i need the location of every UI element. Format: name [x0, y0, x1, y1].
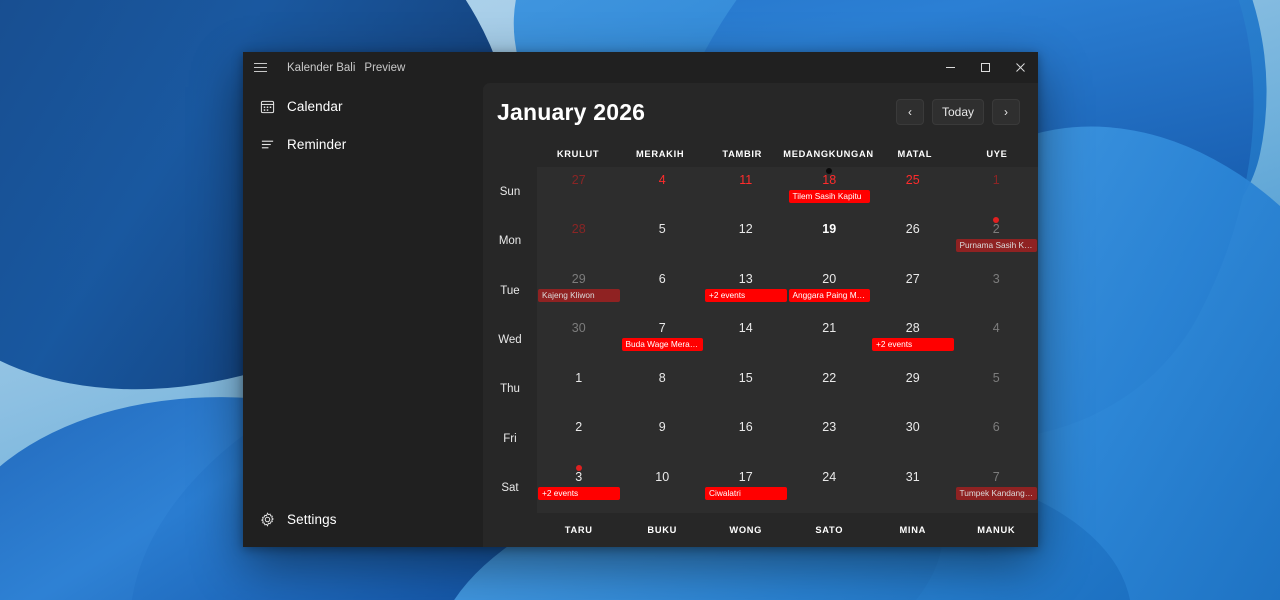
- day-number: 4: [993, 321, 1000, 335]
- event-badge[interactable]: +2 events: [705, 289, 787, 302]
- day-number: 2: [993, 222, 1000, 236]
- day-number: 24: [822, 470, 836, 484]
- calendar-day-cell[interactable]: 25: [871, 167, 955, 216]
- day-number: 5: [993, 371, 1000, 385]
- day-events: [621, 286, 705, 289]
- calendar-navigation: ‹ Today ›: [896, 99, 1020, 125]
- day-number: 28: [906, 321, 920, 335]
- calendar-day-cell[interactable]: 11: [704, 167, 788, 216]
- calendar-day-cell[interactable]: 20Anggara Paing M…: [788, 266, 872, 315]
- calendar-day-cell[interactable]: 10: [621, 464, 705, 513]
- day-number: 29: [572, 272, 586, 286]
- calendar-day-cell[interactable]: 4: [955, 315, 1039, 364]
- desktop-wallpaper: Kalender BaliPreview: [0, 0, 1280, 600]
- weekday-label: Sun: [483, 167, 537, 216]
- reminder-list-icon: [259, 136, 275, 152]
- day-events: +2 events: [537, 484, 621, 500]
- weekday-label: Sat: [483, 464, 537, 513]
- day-events: [955, 335, 1039, 338]
- calendar-day-cell[interactable]: 24: [788, 464, 872, 513]
- sidebar-item-calendar-label: Calendar: [287, 99, 343, 114]
- calendar-day-cell[interactable]: 30: [537, 315, 621, 364]
- footer-name: MANUK: [955, 525, 1039, 535]
- pasaran-name: MEDANGKUNGAN: [783, 149, 874, 159]
- calendar-week-row: 3+2 events1017Ciwalatri24317Tumpek Kanda…: [537, 464, 1038, 513]
- day-events: [788, 335, 872, 338]
- day-number: 5: [659, 222, 666, 236]
- calendar-day-cell[interactable]: 1: [537, 365, 621, 414]
- calendar-grid: 2741118Tilem Sasih Kapitu2512851219262Pu…: [537, 167, 1038, 513]
- pasaran-name: KRULUT: [537, 149, 619, 159]
- day-number: 1: [575, 371, 582, 385]
- weekday-label: Tue: [483, 266, 537, 315]
- day-events: [537, 335, 621, 338]
- calendar-grid-wrapper: SunMonTueWedThuFriSat 2741118Tilem Sasih…: [483, 167, 1038, 513]
- month-title: January 2026: [497, 99, 645, 126]
- event-badge[interactable]: Kajeng Kliwon: [538, 289, 620, 302]
- day-events: +2 events: [871, 335, 955, 351]
- day-events: [955, 434, 1039, 437]
- event-badge[interactable]: +2 events: [872, 338, 954, 351]
- day-number: 21: [822, 321, 836, 335]
- close-icon[interactable]: [1003, 52, 1038, 83]
- day-number: 13: [739, 272, 753, 286]
- day-events: [871, 484, 955, 487]
- calendar-day-cell[interactable]: 15: [704, 365, 788, 414]
- day-number: 8: [659, 371, 666, 385]
- day-events: [537, 385, 621, 388]
- previous-month-button[interactable]: ‹: [896, 99, 924, 125]
- event-badge[interactable]: +2 events: [538, 487, 620, 500]
- sidebar-item-reminder-label: Reminder: [287, 137, 346, 152]
- day-number: 17: [739, 470, 753, 484]
- day-events: [871, 434, 955, 437]
- calendar-day-cell[interactable]: 6: [621, 266, 705, 315]
- day-number: 12: [739, 222, 753, 236]
- day-events: [788, 434, 872, 437]
- day-events: [955, 286, 1039, 289]
- app-window: Kalender BaliPreview: [243, 52, 1038, 547]
- event-badge[interactable]: Ciwalatri: [705, 487, 787, 500]
- calendar-week-row: 307Buda Wage Mera…142128+2 events4: [537, 315, 1038, 364]
- maximize-icon[interactable]: [968, 52, 1003, 83]
- day-events: [871, 187, 955, 190]
- calendar-day-cell[interactable]: 17Ciwalatri: [704, 464, 788, 513]
- day-events: Purnama Sasih K…: [955, 236, 1039, 252]
- day-number: 15: [739, 371, 753, 385]
- day-number: 14: [739, 321, 753, 335]
- day-events: Kajeng Kliwon: [537, 286, 621, 302]
- day-events: Tumpek Kandang…: [955, 484, 1039, 500]
- calendar-day-cell[interactable]: 3: [955, 266, 1039, 315]
- day-number: 2: [575, 420, 582, 434]
- day-events: [871, 385, 955, 388]
- day-events: [955, 385, 1039, 388]
- pasaran-name: TAMBIR: [701, 149, 783, 159]
- weekday-label-column: SunMonTueWedThuFriSat: [483, 167, 537, 513]
- app-title-text: Kalender Bali: [287, 62, 355, 74]
- day-events: [704, 335, 788, 338]
- day-number: 30: [572, 321, 586, 335]
- day-number: 7: [659, 321, 666, 335]
- calendar-card: January 2026 ‹ Today › KRULUTMERAKIHTAMB…: [483, 83, 1038, 547]
- day-number: 4: [659, 173, 666, 187]
- day-number: 30: [906, 420, 920, 434]
- day-number: 1: [993, 173, 1000, 187]
- calendar-week-row: 2851219262Purnama Sasih K…: [537, 216, 1038, 265]
- day-events: Ciwalatri: [704, 484, 788, 500]
- calendar-day-cell[interactable]: 7Buda Wage Mera…: [621, 315, 705, 364]
- calendar-day-cell[interactable]: 5: [621, 216, 705, 265]
- calendar-day-cell[interactable]: 26: [871, 216, 955, 265]
- calendar-day-cell[interactable]: 6: [955, 414, 1039, 463]
- day-number: 6: [993, 420, 1000, 434]
- calendar-day-cell[interactable]: 28: [537, 216, 621, 265]
- calendar-day-cell[interactable]: 22: [788, 365, 872, 414]
- purnama-moon-dot-icon: [576, 465, 582, 471]
- event-badge[interactable]: Tumpek Kandang…: [956, 487, 1038, 500]
- footer-name: SATO: [788, 525, 872, 535]
- day-number: 22: [822, 371, 836, 385]
- window-body: Calendar Reminder: [243, 83, 1038, 547]
- calendar-day-cell[interactable]: 28+2 events: [871, 315, 955, 364]
- sidebar-item-reminder[interactable]: Reminder: [248, 126, 478, 162]
- pasaran-name: MATAL: [874, 149, 956, 159]
- day-events: [621, 236, 705, 239]
- day-number: 19: [822, 222, 836, 236]
- day-number: 3: [575, 470, 582, 484]
- day-events: [704, 236, 788, 239]
- day-number: 11: [739, 173, 752, 187]
- calendar-day-cell[interactable]: 2Purnama Sasih K…: [955, 216, 1039, 265]
- calendar-icon: [259, 98, 275, 114]
- day-events: Buda Wage Mera…: [621, 335, 705, 351]
- day-number: 29: [906, 371, 920, 385]
- today-button[interactable]: Today: [932, 99, 984, 125]
- calendar-week-row: 29Kajeng Kliwon613+2 events20Anggara Pai…: [537, 266, 1038, 315]
- sidebar: Calendar Reminder: [243, 83, 483, 547]
- day-number: 10: [655, 470, 669, 484]
- day-number: 7: [993, 470, 1000, 484]
- calendar-day-cell[interactable]: 14: [704, 315, 788, 364]
- calendar-day-cell[interactable]: 13+2 events: [704, 266, 788, 315]
- day-events: [537, 236, 621, 239]
- calendar-day-cell[interactable]: 7Tumpek Kandang…: [955, 464, 1039, 513]
- calendar-week-row: 2741118Tilem Sasih Kapitu251: [537, 167, 1038, 216]
- hamburger-menu-icon[interactable]: [243, 52, 277, 83]
- day-events: [537, 187, 621, 190]
- pasaran-header-row: KRULUTMERAKIHTAMBIRMEDANGKUNGANMATALUYE: [483, 141, 1038, 167]
- weekday-label: Fri: [483, 414, 537, 463]
- footer-name: WONG: [704, 525, 788, 535]
- day-events: [871, 286, 955, 289]
- day-events: [537, 434, 621, 437]
- day-events: Tilem Sasih Kapitu: [788, 187, 872, 203]
- day-events: [621, 187, 705, 190]
- day-events: [621, 434, 705, 437]
- calendar-day-cell[interactable]: 21: [788, 315, 872, 364]
- calendar-day-cell[interactable]: 12: [704, 216, 788, 265]
- calendar-day-cell[interactable]: 23: [788, 414, 872, 463]
- day-events: [621, 484, 705, 487]
- calendar-day-cell[interactable]: 27: [871, 266, 955, 315]
- day-number: 3: [993, 272, 1000, 286]
- day-number: 27: [906, 272, 920, 286]
- calendar-day-cell[interactable]: 29Kajeng Kliwon: [537, 266, 621, 315]
- calendar-day-cell[interactable]: 2: [537, 414, 621, 463]
- day-number: 23: [822, 420, 836, 434]
- day-events: [955, 187, 1039, 190]
- title-bar: Kalender BaliPreview: [243, 52, 1038, 83]
- day-number: 20: [822, 272, 836, 286]
- calendar-header: January 2026 ‹ Today ›: [483, 83, 1038, 141]
- window-controls: [933, 52, 1038, 83]
- day-events: [788, 484, 872, 487]
- footer-name: TARU: [537, 525, 621, 535]
- calendar-day-cell[interactable]: 27: [537, 167, 621, 216]
- next-month-button[interactable]: ›: [992, 99, 1020, 125]
- calendar-day-cell[interactable]: 29: [871, 365, 955, 414]
- calendar-day-cell[interactable]: 19: [788, 216, 872, 265]
- sidebar-item-settings-label: Settings: [287, 512, 337, 527]
- calendar-day-cell[interactable]: 31: [871, 464, 955, 513]
- footer-name: MINA: [871, 525, 955, 535]
- event-badge[interactable]: Tilem Sasih Kapitu: [789, 190, 871, 203]
- calendar-day-cell[interactable]: 18Tilem Sasih Kapitu: [788, 167, 872, 216]
- day-number: 16: [739, 420, 753, 434]
- weekday-label: Wed: [483, 315, 537, 364]
- day-number: 25: [906, 173, 920, 187]
- day-number: 31: [906, 470, 920, 484]
- calendar-day-cell[interactable]: 5: [955, 365, 1039, 414]
- window-title: Kalender BaliPreview: [287, 62, 405, 74]
- calendar-day-cell[interactable]: 4: [621, 167, 705, 216]
- day-events: +2 events: [704, 286, 788, 302]
- day-events: [621, 385, 705, 388]
- calendar-day-cell[interactable]: 1: [955, 167, 1039, 216]
- event-badge[interactable]: Anggara Paing M…: [789, 289, 871, 302]
- day-events: [704, 434, 788, 437]
- day-number: 6: [659, 272, 666, 286]
- day-events: [704, 187, 788, 190]
- weekday-label: Thu: [483, 365, 537, 414]
- purnama-moon-dot-icon: [993, 217, 999, 223]
- day-number: 28: [572, 222, 586, 236]
- event-badge[interactable]: Purnama Sasih K…: [956, 239, 1038, 252]
- day-number: 9: [659, 420, 666, 434]
- pasaran-name: MERAKIH: [619, 149, 701, 159]
- day-events: [704, 385, 788, 388]
- day-number: 18: [822, 173, 836, 187]
- pasaran-name: UYE: [956, 149, 1038, 159]
- calendar-day-cell[interactable]: 8: [621, 365, 705, 414]
- sidebar-item-settings[interactable]: Settings: [248, 501, 478, 537]
- day-events: [871, 236, 955, 239]
- tilem-moon-dot-icon: [826, 168, 832, 174]
- calendar-week-row: 181522295: [537, 365, 1038, 414]
- footer-names-row: TARUBUKUWONGSATOMINAMANUK: [483, 513, 1038, 547]
- calendar-day-cell[interactable]: 3+2 events: [537, 464, 621, 513]
- calendar-day-cell[interactable]: 30: [871, 414, 955, 463]
- calendar-day-cell[interactable]: 9: [621, 414, 705, 463]
- app-subtitle-text: Preview: [364, 62, 405, 74]
- minimize-icon[interactable]: [933, 52, 968, 83]
- sidebar-item-calendar[interactable]: Calendar: [248, 88, 478, 124]
- day-events: [788, 385, 872, 388]
- calendar-day-cell[interactable]: 16: [704, 414, 788, 463]
- gear-icon: [259, 511, 275, 527]
- day-number: 27: [572, 173, 586, 187]
- weekday-label: Mon: [483, 216, 537, 265]
- day-number: 26: [906, 222, 920, 236]
- footer-name: BUKU: [621, 525, 705, 535]
- day-events: Anggara Paing M…: [788, 286, 872, 302]
- sidebar-spacer: [243, 163, 483, 500]
- day-events: [788, 236, 872, 239]
- calendar-week-row: 291623306: [537, 414, 1038, 463]
- event-badge[interactable]: Buda Wage Mera…: [622, 338, 704, 351]
